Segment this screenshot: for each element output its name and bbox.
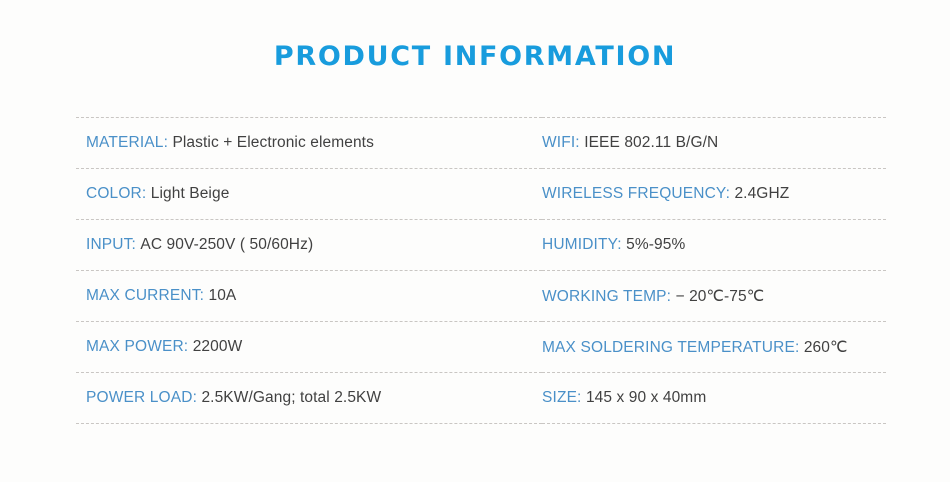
spec-cell-size: SIZE: 145 x 90 x 40mm <box>542 373 886 424</box>
table-row: POWER LOAD: 2.5KW/Gang; total 2.5KW SIZE… <box>76 373 886 424</box>
spec-cell-power-load: POWER LOAD: 2.5KW/Gang; total 2.5KW <box>76 373 542 424</box>
spec-value: 145 x 90 x 40mm <box>586 389 706 406</box>
spec-value: Plastic + Electronic elements <box>172 134 373 151</box>
spec-label: MAX POWER: <box>86 338 188 355</box>
spec-label: SIZE: <box>542 389 582 406</box>
spec-label: WORKING TEMP: <box>542 288 671 305</box>
spec-value: IEEE 802.11 B/G/N <box>584 134 718 151</box>
spec-cell-material: MATERIAL: Plastic + Electronic elements <box>76 118 542 169</box>
spec-value: 2200W <box>193 338 243 355</box>
spec-label: WIFI: <box>542 134 580 151</box>
spec-cell-max-power: MAX POWER: 2200W <box>76 322 542 373</box>
spec-label: WIRELESS FREQUENCY: <box>542 185 730 202</box>
spec-value: Light Beige <box>151 185 230 202</box>
spec-value: 2.4GHZ <box>734 185 789 202</box>
spec-cell-wifi: WIFI: IEEE 802.11 B/G/N <box>542 118 886 169</box>
spec-cell-max-current: MAX CURRENT: 10A <box>76 271 542 322</box>
spec-value: 2.5KW/Gang; total 2.5KW <box>201 389 381 406</box>
spec-cell-color: COLOR: Light Beige <box>76 169 542 220</box>
spec-label: POWER LOAD: <box>86 389 197 406</box>
spec-label: HUMIDITY: <box>542 236 622 253</box>
spec-value: − 20℃-75℃ <box>671 288 764 305</box>
page-title: PRODUCT INFORMATION <box>0 41 950 73</box>
table-row: MATERIAL: Plastic + Electronic elements … <box>76 118 886 169</box>
spec-label: MAX SOLDERING TEMPERATURE: <box>542 339 799 356</box>
spec-cell-max-soldering-temperature: MAX SOLDERING TEMPERATURE: 260℃ <box>542 322 886 373</box>
spec-value: AC 90V-250V ( 50/60Hz) <box>140 236 313 253</box>
spec-value: 260℃ <box>804 339 848 356</box>
table-row: MAX POWER: 2200W MAX SOLDERING TEMPERATU… <box>76 322 886 373</box>
table-row: INPUT: AC 90V-250V ( 50/60Hz) HUMIDITY: … <box>76 220 886 271</box>
spec-label: COLOR: <box>86 185 146 202</box>
spec-value: 10A <box>208 287 236 304</box>
spec-value: 5%-95% <box>626 236 685 253</box>
specification-table: MATERIAL: Plastic + Electronic elements … <box>76 117 886 424</box>
table-row: MAX CURRENT: 10A WORKING TEMP: − 20℃-75℃ <box>76 271 886 322</box>
spec-label: MATERIAL: <box>86 134 168 151</box>
product-information-sheet: PRODUCT INFORMATION MATERIAL: Plastic + … <box>0 0 950 482</box>
spec-label: INPUT: <box>86 236 136 253</box>
spec-cell-humidity: HUMIDITY: 5%-95% <box>542 220 886 271</box>
table-row: COLOR: Light Beige WIRELESS FREQUENCY: 2… <box>76 169 886 220</box>
spec-cell-input: INPUT: AC 90V-250V ( 50/60Hz) <box>76 220 542 271</box>
spec-cell-working-temp: WORKING TEMP: − 20℃-75℃ <box>542 271 886 322</box>
spec-cell-wireless-frequency: WIRELESS FREQUENCY: 2.4GHZ <box>542 169 886 220</box>
spec-label: MAX CURRENT: <box>86 287 204 304</box>
